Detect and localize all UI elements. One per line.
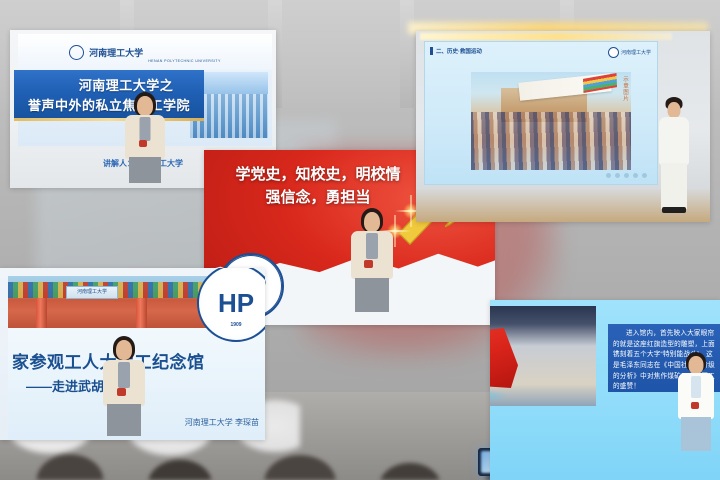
panel1-title-band: 河南理工大学之 誉声中外的私立焦作工学院 bbox=[14, 70, 204, 118]
university-logo-year: 1909 bbox=[230, 322, 241, 328]
photo-panel-bottom-right: 特别能战斗 进入馆内，首先映入大家眼帘的就是这座红旗造型的雕塑，上面镌刻着五个大… bbox=[490, 300, 720, 480]
presenter-3 bbox=[652, 97, 696, 219]
panel3-section-label: 二、历史·救国运动 bbox=[436, 47, 482, 55]
presenter-inner-top bbox=[118, 362, 130, 388]
panel1-gold-rule bbox=[14, 118, 204, 121]
panel4-byline: 河南理工大学 李琛苗 bbox=[185, 417, 259, 428]
presenter-inner-top bbox=[140, 117, 151, 141]
panel3-light-strip bbox=[420, 33, 672, 40]
presenter-head bbox=[137, 96, 153, 116]
panel3-historic-painting bbox=[471, 72, 631, 170]
presenter-head bbox=[689, 356, 704, 374]
presenter-head bbox=[364, 212, 380, 232]
presenter-head bbox=[116, 340, 132, 360]
presenter-trousers bbox=[661, 163, 687, 209]
panel3-pagination-dots[interactable] bbox=[606, 173, 647, 178]
panel1-slide-header: 河南理工大学 HENAN POLYTECHNIC UNIVERSITY bbox=[18, 34, 272, 70]
ceiling-beam bbox=[400, 0, 414, 112]
panel1-title-line1: 河南理工大学之 bbox=[45, 75, 174, 94]
presenter-5 bbox=[672, 352, 720, 474]
presenter-red-badge bbox=[139, 140, 147, 147]
presenter-skirt bbox=[129, 157, 161, 183]
panel2-slogan: 学党史，知校史，明校情 强信念，勇担当 bbox=[218, 164, 418, 209]
dot[interactable] bbox=[615, 173, 620, 178]
photo-panel-top-right: 二、历史·救国运动 河南理工大学 示意图片 bbox=[416, 31, 710, 222]
panel2-slogan-line2: 强信念，勇担当 bbox=[218, 187, 418, 210]
panel3-logo-text: 河南理工大学 bbox=[621, 49, 651, 56]
university-logo-mark: HP bbox=[218, 288, 254, 319]
presenter-2 bbox=[344, 208, 400, 325]
presenter-red-badge bbox=[117, 388, 126, 396]
presenter-skirt bbox=[107, 404, 141, 436]
panel5-memorial-hall-photo: 特别能战斗 bbox=[490, 306, 596, 406]
presenter-skirt bbox=[355, 278, 389, 312]
panel2-slogan-line1: 学党史，知校史，明校情 bbox=[218, 164, 418, 187]
presenter-red-badge bbox=[691, 402, 699, 409]
presenter-head bbox=[668, 102, 681, 118]
presenter-skirt bbox=[681, 417, 711, 451]
panel1-header-cn: 河南理工大学 bbox=[89, 46, 143, 59]
panel1-header-en: HENAN POLYTECHNIC UNIVERSITY bbox=[148, 59, 221, 70]
sculpture-inscription: 特别能战斗 bbox=[490, 344, 500, 360]
photo-panel-bottom-left: 河南理工大学 家参观工人大罢工纪念馆 ——走进武胡 河南理工大学 李琛苗 HP … bbox=[0, 268, 265, 440]
section-bar-icon bbox=[430, 47, 433, 55]
gate-plaque: 河南理工大学 bbox=[66, 286, 118, 299]
presenter-inner-top bbox=[691, 376, 701, 398]
dot[interactable] bbox=[642, 173, 647, 178]
panel3-side-note: 示意图片 bbox=[621, 76, 629, 102]
presenter-red-badge bbox=[364, 260, 373, 268]
presenter-zhongshan-jacket bbox=[659, 117, 689, 165]
university-seal-icon bbox=[608, 47, 619, 58]
gate-pillar bbox=[136, 298, 147, 332]
panel3-section-tag: 二、历史·救国运动 bbox=[430, 47, 482, 55]
collage-image: 河南理工大学 HENAN POLYTECHNIC UNIVERSITY 河南理工… bbox=[0, 0, 720, 480]
dot[interactable] bbox=[606, 173, 611, 178]
panel4-subtitle: ——走进武胡 bbox=[26, 376, 104, 395]
panel3-projection-screen: 二、历史·救国运动 河南理工大学 示意图片 bbox=[424, 41, 658, 185]
sculpture-base-glow bbox=[490, 388, 508, 404]
presenter-4 bbox=[96, 336, 152, 440]
gate-pillar bbox=[36, 298, 47, 332]
university-seal-icon bbox=[69, 45, 84, 60]
dot[interactable] bbox=[624, 173, 629, 178]
presenter-shoes bbox=[662, 207, 686, 213]
painting-crowd bbox=[471, 112, 631, 170]
presenter-inner-top bbox=[366, 233, 378, 259]
panel3-logo: 河南理工大学 bbox=[608, 47, 651, 58]
presenter-1 bbox=[118, 92, 172, 188]
dot[interactable] bbox=[633, 173, 638, 178]
